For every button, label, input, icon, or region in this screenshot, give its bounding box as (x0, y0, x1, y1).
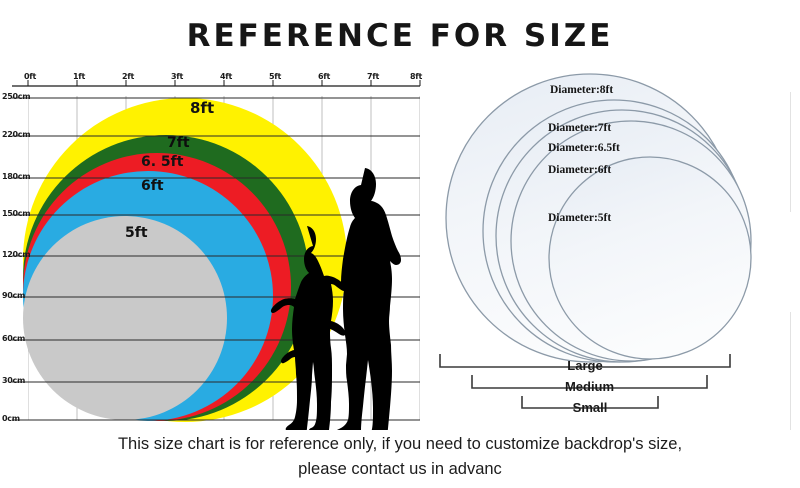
disc-label-6.5ft: Diameter:6.5ft (548, 142, 620, 154)
disclaimer-caption: This size chart is for reference only, i… (40, 432, 760, 482)
edge-rule-top (790, 92, 791, 212)
disc-label-6ft: Diameter:6ft (548, 164, 611, 176)
height-comparison-chart: 250cm 220cm 180cm 150cm 120cm 90cm 60cm … (0, 70, 430, 430)
x-tick-2ft: 2ft (122, 72, 134, 81)
ring-label-5ft: 5ft (125, 225, 148, 241)
x-tick-6ft: 6ft (318, 72, 330, 81)
y-tick-60cm: 60cm (2, 334, 25, 343)
page-title: REFERENCE FOR SIZE (0, 18, 800, 54)
x-tick-1ft: 1ft (73, 72, 85, 81)
size-reference-chart-page: REFERENCE FOR SIZE (0, 0, 800, 488)
bracket-label-large: Large (440, 358, 730, 373)
y-tick-250cm: 250cm (2, 92, 30, 101)
bracket-label-medium: Medium (472, 379, 707, 394)
y-tick-180cm: 180cm (2, 172, 30, 181)
x-tick-7ft: 7ft (367, 72, 379, 81)
adult-silhouette (336, 168, 401, 430)
caption-line-2: please contact us in advanc (40, 457, 760, 482)
chart-svg (0, 70, 430, 430)
x-tick-5ft: 5ft (269, 72, 281, 81)
disc-label-7ft: Diameter:7ft (548, 122, 611, 134)
y-tick-30cm: 30cm (2, 376, 25, 385)
edge-rule-bottom (790, 312, 791, 430)
ring-label-7ft: 7ft (167, 135, 190, 151)
ring-label-6.5ft: 6. 5ft (141, 154, 183, 170)
ring-label-6ft: 6ft (141, 178, 164, 194)
size-category-brackets: Large Medium Small (425, 345, 770, 425)
bracket-label-small: Small (522, 400, 658, 415)
y-tick-150cm: 150cm (2, 209, 30, 218)
disc-5ft (549, 157, 751, 359)
y-tick-120cm: 120cm (2, 250, 30, 259)
ring-5ft (23, 216, 227, 420)
x-tick-8ft: 8ft (410, 72, 422, 81)
ring-label-8ft: 8ft (190, 99, 214, 117)
y-tick-90cm: 90cm (2, 291, 25, 300)
x-tick-4ft: 4ft (220, 72, 232, 81)
x-tick-0ft: 0ft (24, 72, 36, 81)
y-tick-220cm: 220cm (2, 130, 30, 139)
disc-label-5ft: Diameter:5ft (548, 212, 611, 224)
disc-label-8ft: Diameter:8ft (550, 84, 613, 96)
y-tick-0cm: 0cm (2, 414, 20, 423)
x-tick-3ft: 3ft (171, 72, 183, 81)
caption-line-1: This size chart is for reference only, i… (40, 432, 760, 457)
